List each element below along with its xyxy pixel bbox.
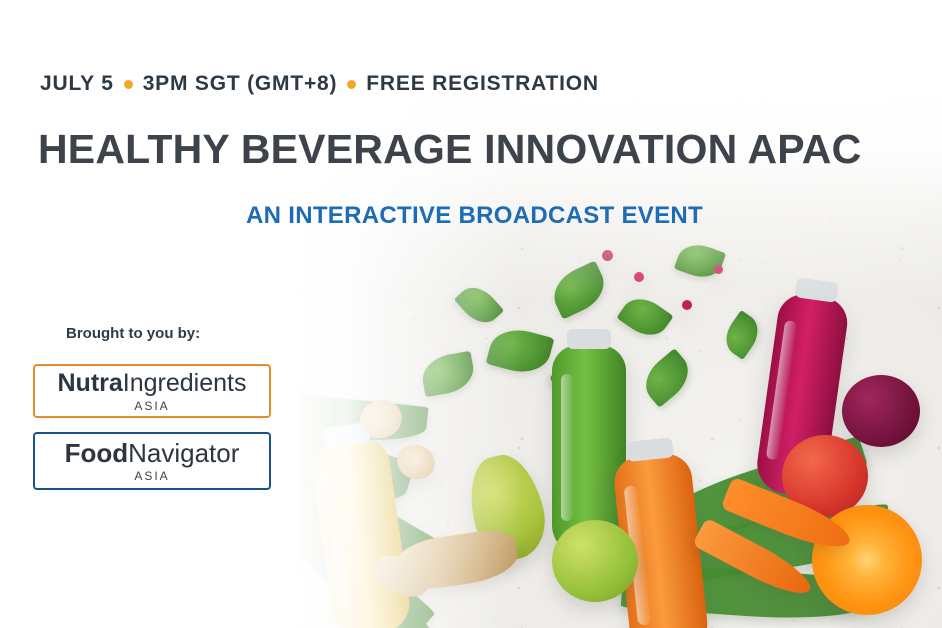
bottle-cap-icon <box>567 329 611 349</box>
nutraingredients-asia-logo[interactable]: NutraIngredients ASIA <box>33 364 271 418</box>
event-details-line: JULY 5 3PM SGT (GMT+8) FREE REGISTRATION <box>40 72 599 96</box>
bottle-highlight <box>561 374 573 521</box>
foodnavigator-wordmark: FoodNavigator <box>65 440 240 466</box>
sponsor-label: Brought to you by: <box>66 325 200 342</box>
pomegranate-seed-icon <box>682 300 692 310</box>
event-time: 3PM SGT (GMT+8) <box>143 72 338 96</box>
nutraingredients-region: ASIA <box>134 399 169 413</box>
nutraingredients-word-bold: Nutra <box>58 369 123 397</box>
page-title: HEALTHY BEVERAGE INNOVATION APAC <box>38 126 861 173</box>
foodnavigator-word-light: Navigator <box>128 438 239 468</box>
foodnavigator-asia-logo[interactable]: FoodNavigator ASIA <box>33 432 271 490</box>
beetroot-icon <box>842 375 920 447</box>
page-subtitle: AN INTERACTIVE BROADCAST EVENT <box>246 202 703 230</box>
bullet-dot-icon <box>124 80 133 89</box>
bullet-dot-icon <box>347 80 356 89</box>
event-date: JULY 5 <box>40 72 114 96</box>
bottle-cap-icon <box>626 437 674 462</box>
green-apple-icon <box>552 520 638 602</box>
event-registration-note: FREE REGISTRATION <box>366 72 599 96</box>
nutraingredients-word-light: Ingredients <box>123 369 247 397</box>
webinar-promo-banner: JULY 5 3PM SGT (GMT+8) FREE REGISTRATION… <box>0 0 942 628</box>
nutraingredients-wordmark: NutraIngredients <box>58 371 247 396</box>
foodnavigator-word-bold: Food <box>65 438 129 468</box>
foodnavigator-region: ASIA <box>134 469 169 483</box>
